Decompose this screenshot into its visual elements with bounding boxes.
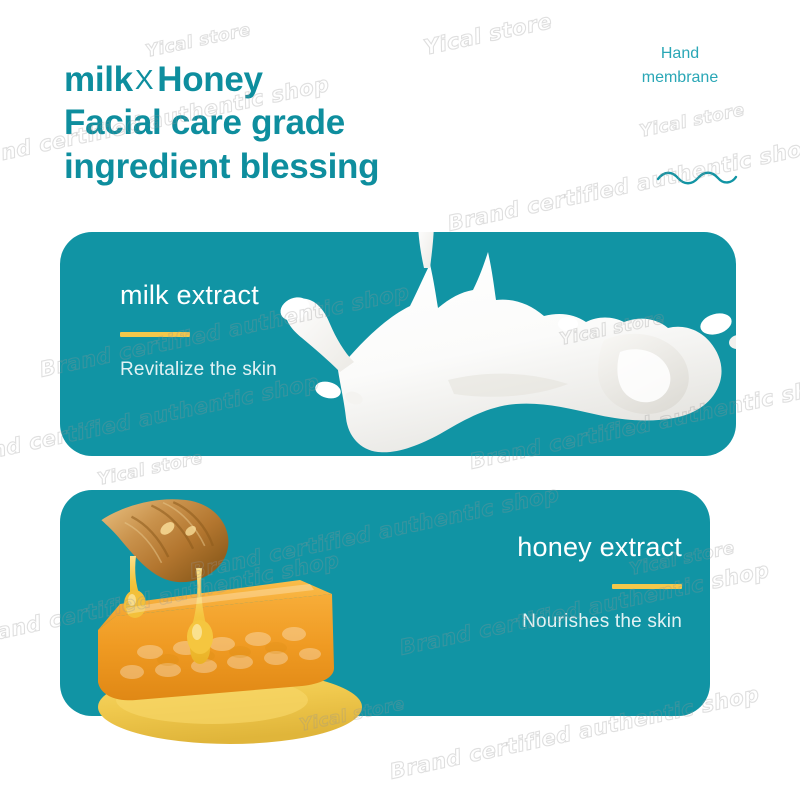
headline-line-1: milkXHoney [64,58,484,101]
milk-card-subtitle: Revitalize the skin [120,359,277,381]
honey-card-subtitle: Nourishes the skin [517,611,682,633]
multiply-symbol-icon: X [133,64,157,95]
watermark-brand: Brand certified authentic shop [446,134,800,236]
watermark-store: Yical store [422,9,555,60]
honey-card-title: honey extract [517,532,682,563]
ingredient-card-honey: honey extract Nourishes the skin [60,490,710,716]
headline-line-2: Facial care grade [64,101,484,144]
corner-label-line-2: membrane [620,66,740,90]
wavy-line-icon [656,168,738,186]
milk-card-title: milk extract [120,280,277,311]
corner-label-line-1: Hand [620,42,740,66]
milk-card-text: milk extract Revitalize the skin [120,280,277,381]
headline-honey: Honey [157,60,262,99]
honey-card-text: honey extract Nourishes the skin [517,532,682,633]
product-marketing-image: milkXHoney Facial care grade ingredient … [0,0,800,800]
honey-card-divider [612,584,682,589]
headline-line-3: ingredient blessing [64,145,484,188]
milk-card-divider [120,332,190,337]
page-title: milkXHoney Facial care grade ingredient … [64,58,484,188]
corner-label: Hand membrane [620,42,740,90]
watermark-store: Yical store [144,20,253,62]
watermark-store: Yical store [638,100,747,142]
ingredient-card-milk: milk extract Revitalize the skin [60,232,736,456]
headline-milk: milk [64,60,133,99]
